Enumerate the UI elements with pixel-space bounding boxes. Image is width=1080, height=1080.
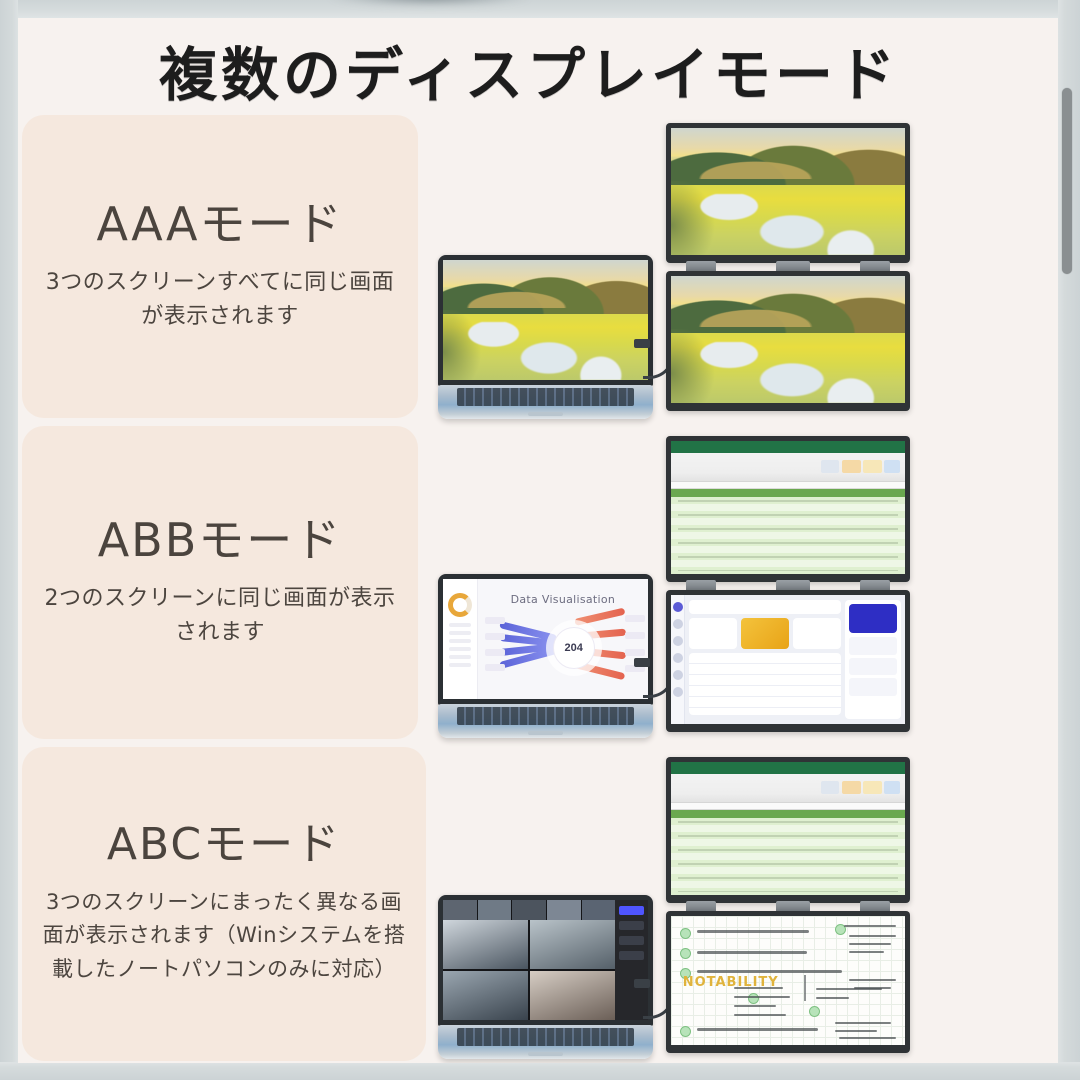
- donut-chart-icon: [448, 593, 472, 617]
- monitor-bottom-aaa: [666, 271, 910, 411]
- handwriting-line: [816, 997, 849, 999]
- ribbon-chip: [842, 781, 861, 794]
- sidebar-line: [449, 663, 471, 667]
- dashboard-topbar: [689, 600, 841, 614]
- side-mini-card: [849, 637, 897, 655]
- handwriting-line: [697, 930, 809, 933]
- ribbon-chip: [821, 460, 840, 473]
- dashboard-nav-rail: [671, 595, 685, 724]
- transactions-list: [689, 653, 841, 715]
- dashboard-side-panel: [845, 600, 901, 719]
- handwriting-line: [844, 925, 895, 927]
- monitor-bottom-screen-whiteboard: NOTABILITY: [671, 916, 905, 1045]
- mode-name-aaa: AAAモード: [97, 199, 344, 250]
- nav-dot: [673, 687, 683, 697]
- flow-label: [625, 615, 645, 622]
- monitor-bottom-abb: [666, 590, 910, 732]
- nav-dot: [673, 602, 683, 612]
- chat-message: [619, 951, 644, 960]
- cable-plug-aaa: [634, 339, 650, 348]
- mode-card-aaa: AAAモード 3つのスクリーンすべてに同じ画面が表示されます: [22, 115, 418, 418]
- handwriting-line: [697, 970, 842, 973]
- handwriting-line: [734, 1005, 776, 1007]
- device-illustration-abc: NOTABILITY: [428, 747, 1040, 1061]
- page-title: 複数のディスプレイモード: [18, 28, 1040, 112]
- sidebar-line: [449, 631, 471, 635]
- ribbon-chip: [821, 781, 840, 794]
- participant-tile: [443, 971, 528, 1020]
- mode-row-abb: ABBモード 2つのスクリーンに同じ画面が表示されます: [18, 426, 1040, 739]
- monitor-bottom-screen-landscape: [671, 276, 905, 403]
- mode-description-abc: 3つのスクリーンにまったく異なる画面が表示されます（Winシステムを搭載したノー…: [36, 886, 412, 987]
- video-call-art: [443, 900, 648, 1020]
- handwriting-line: [835, 1022, 891, 1024]
- excel-art: [671, 441, 905, 574]
- mode-row-aaa: AAAモード 3つのスクリーンすべてに同じ画面が表示されます: [18, 115, 1040, 418]
- laptop-lid: Data Visualisation: [438, 574, 653, 705]
- participant-tile: [530, 971, 615, 1020]
- laptop-lid: [438, 895, 653, 1026]
- participant-thumb: [512, 900, 546, 920]
- handwriting-line: [854, 987, 891, 989]
- laptop-base: [438, 385, 653, 419]
- dataviz-art: Data Visualisation: [443, 579, 648, 699]
- handwriting-line: [839, 1037, 895, 1039]
- checkmark-icon: [809, 1006, 820, 1017]
- participant-thumb: [478, 900, 512, 920]
- flow-label: [485, 649, 505, 656]
- sidebar-line: [449, 623, 471, 627]
- laptop-screen-landscape: [443, 260, 648, 380]
- top-blur-artifact: [330, 0, 530, 6]
- ribbon-chip: [884, 460, 900, 473]
- cable-plug-abc: [634, 979, 650, 988]
- sidebar-line: [449, 647, 471, 651]
- notability-label: NOTABILITY: [683, 975, 779, 990]
- flow-label: [485, 633, 505, 640]
- mode-card-abb: ABBモード 2つのスクリーンに同じ画面が表示されます: [22, 426, 418, 739]
- monitor-top-screen-excel: [671, 762, 905, 895]
- landscape-photo-art: [671, 128, 905, 255]
- excel-header-row: [671, 489, 905, 497]
- dataviz-center-value: 204: [553, 627, 595, 669]
- laptop-lid: [438, 255, 653, 386]
- dashboard-body: [685, 595, 845, 724]
- flow-band: [574, 607, 625, 625]
- device-illustration-aaa: [428, 115, 1040, 418]
- laptop-abc: [438, 895, 653, 1059]
- handwriting-line: [697, 1028, 819, 1031]
- dataviz-canvas: Data Visualisation: [478, 579, 648, 699]
- ribbon-chip: [884, 781, 900, 794]
- excel-titlebar: [671, 441, 905, 453]
- ridge-shape: [690, 151, 854, 179]
- laptop-screen-dataviz: Data Visualisation: [443, 579, 648, 699]
- checkmark-icon: [680, 948, 691, 959]
- cable-plug-abb: [634, 658, 650, 667]
- laptop-screen-video-call: [443, 900, 648, 1020]
- monitor-top-abc: [666, 757, 910, 903]
- excel-cell-text: [678, 500, 898, 571]
- landscape-photo-art: [671, 276, 905, 403]
- handwriting-line: [849, 951, 884, 953]
- excel-formula-bar: [671, 482, 905, 489]
- side-mini-card: [849, 678, 897, 696]
- ribbon-chip: [863, 781, 882, 794]
- laptop-keyboard: [457, 388, 633, 406]
- laptop-aaa: [438, 255, 653, 419]
- excel-grid: [671, 497, 905, 574]
- ribbon-chip: [842, 460, 861, 473]
- flow-label: [485, 617, 505, 624]
- handwriting-line: [734, 996, 790, 998]
- participant-tile: [530, 920, 615, 969]
- excel-header-row: [671, 810, 905, 818]
- handwriting-line: [697, 951, 807, 954]
- mode-description-abb: 2つのスクリーンに同じ画面が表示されます: [36, 582, 404, 650]
- laptop-keyboard: [457, 707, 633, 725]
- handwriting-line: [849, 979, 896, 981]
- side-hero-card: [849, 604, 897, 633]
- excel-ribbon: [671, 453, 905, 482]
- window-chrome-top: [0, 0, 1080, 18]
- stat-card: [793, 618, 841, 649]
- credit-card-visual: [741, 618, 789, 649]
- window-chrome-bottom: [0, 1062, 1080, 1080]
- mode-name-abb: ABBモード: [98, 515, 343, 566]
- nav-dot: [673, 670, 683, 680]
- river-shape: [690, 342, 887, 403]
- stat-card: [689, 618, 737, 649]
- flow-label: [485, 664, 505, 671]
- device-illustration-abb: Data Visualisation: [428, 426, 1040, 739]
- arrow-mark: [804, 975, 806, 1001]
- laptop-base: [438, 1025, 653, 1059]
- dashboard-art: [671, 595, 905, 724]
- river-shape: [459, 322, 631, 380]
- excel-ribbon: [671, 774, 905, 803]
- flow-label: [625, 649, 645, 656]
- product-detail-page: 複数のディスプレイモード AAAモード 3つのスクリーンすべてに同じ画面が表示さ…: [18, 18, 1058, 1063]
- mode-name-abc: ABCモード: [107, 821, 341, 869]
- ribbon-chip: [863, 460, 882, 473]
- excel-grid: [671, 818, 905, 895]
- whiteboard-art: NOTABILITY: [671, 916, 905, 1045]
- ridge-shape: [690, 299, 854, 327]
- excel-formula-bar: [671, 803, 905, 810]
- participant-tile: [443, 920, 528, 969]
- laptop-abb: Data Visualisation: [438, 574, 653, 738]
- nav-dot: [673, 619, 683, 629]
- mode-description-aaa: 3つのスクリーンすべてに同じ画面が表示されます: [36, 266, 404, 334]
- chat-message: [619, 936, 644, 945]
- chat-message: [619, 921, 644, 930]
- chat-message: [619, 906, 644, 915]
- handwriting-line: [849, 943, 891, 945]
- landscape-photo-art: [443, 260, 648, 380]
- ridge-shape: [459, 282, 603, 308]
- handwriting-line: [734, 1014, 785, 1016]
- monitor-bottom-abc: NOTABILITY: [666, 911, 910, 1053]
- laptop-base: [438, 704, 653, 738]
- handwriting-line: [835, 1030, 877, 1032]
- monitor-top-screen-landscape: [671, 128, 905, 255]
- flow-label: [625, 632, 645, 639]
- sidebar-line: [449, 655, 471, 659]
- laptop-trackpad: [528, 412, 562, 416]
- scrollbar-thumb[interactable]: [1062, 88, 1072, 274]
- monitor-bottom-screen-dashboard: [671, 595, 905, 724]
- monitor-top-screen-excel: [671, 441, 905, 574]
- excel-titlebar: [671, 762, 905, 774]
- participant-grid: [443, 920, 615, 1020]
- handwriting-line: [849, 935, 896, 937]
- laptop-trackpad: [528, 731, 562, 735]
- dataviz-sidebar: [443, 579, 478, 699]
- mode-card-abc: ABCモード 3つのスクリーンにまったく異なる画面が表示されます（Winシステム…: [22, 747, 426, 1061]
- call-main-area: [443, 900, 615, 1020]
- mode-row-abc: ABCモード 3つのスクリーンにまったく異なる画面が表示されます（Winシステム…: [18, 747, 1040, 1061]
- checkmark-icon: [680, 1026, 691, 1037]
- participant-strip: [443, 900, 615, 920]
- monitor-top-aaa: [666, 123, 910, 263]
- participant-thumb: [547, 900, 581, 920]
- monitor-top-abb: [666, 436, 910, 582]
- laptop-keyboard: [457, 1028, 633, 1046]
- dashboard-cards: [689, 618, 841, 649]
- window-chrome-left: [0, 0, 18, 1080]
- laptop-trackpad: [528, 1052, 562, 1056]
- checkmark-icon: [680, 928, 691, 939]
- participant-thumb: [582, 900, 616, 920]
- scrollbar-track[interactable]: [1061, 0, 1077, 1080]
- dataviz-title: Data Visualisation: [478, 593, 648, 606]
- sidebar-line: [449, 639, 471, 643]
- excel-art: [671, 762, 905, 895]
- nav-dot: [673, 653, 683, 663]
- nav-dot: [673, 636, 683, 646]
- river-shape: [690, 194, 887, 255]
- side-mini-card: [849, 658, 897, 676]
- excel-cell-text: [678, 821, 898, 892]
- participant-thumb: [443, 900, 477, 920]
